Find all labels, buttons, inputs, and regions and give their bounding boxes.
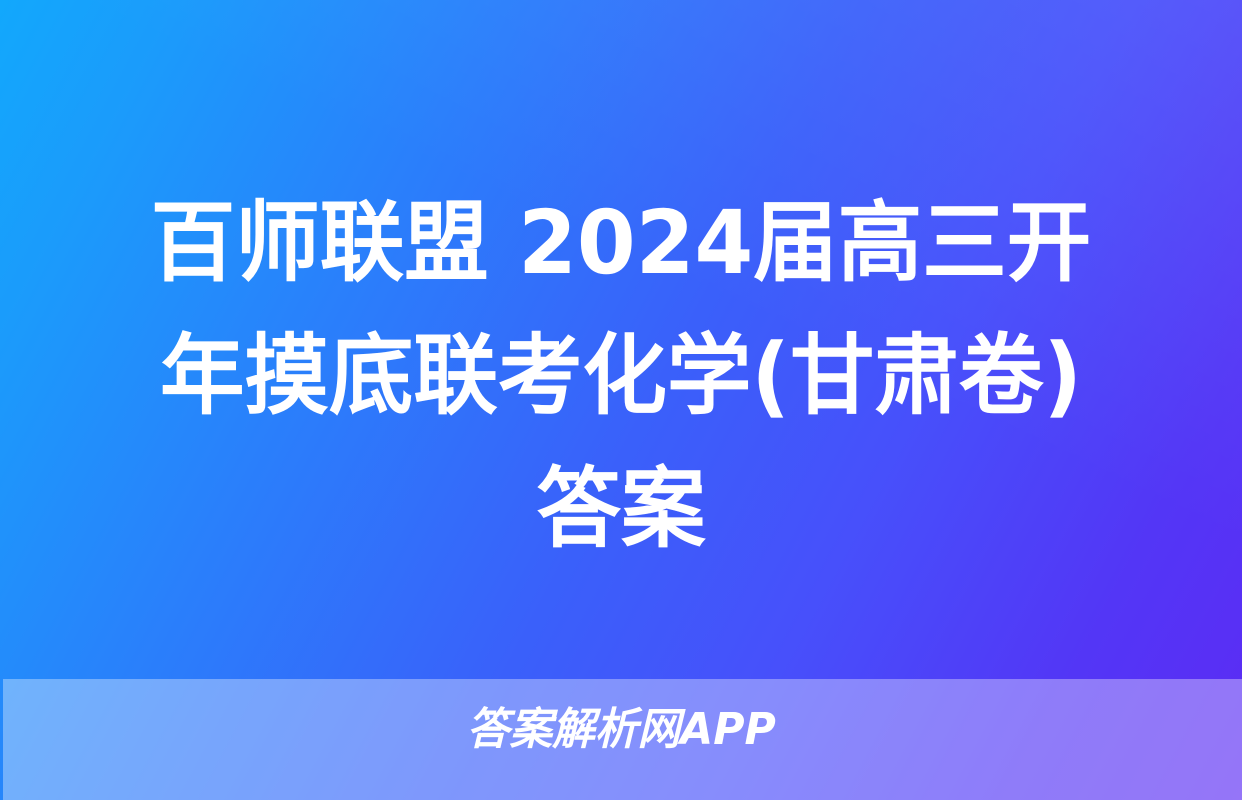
footer-watermark: 答案解析网APP <box>0 703 1242 757</box>
watermark-label: 答案解析网APP <box>466 703 775 757</box>
poster-canvas: 百师联盟 2024届高三开 年摸底联考化学(甘肃卷) 答案 答案解析网APP <box>0 0 1242 800</box>
